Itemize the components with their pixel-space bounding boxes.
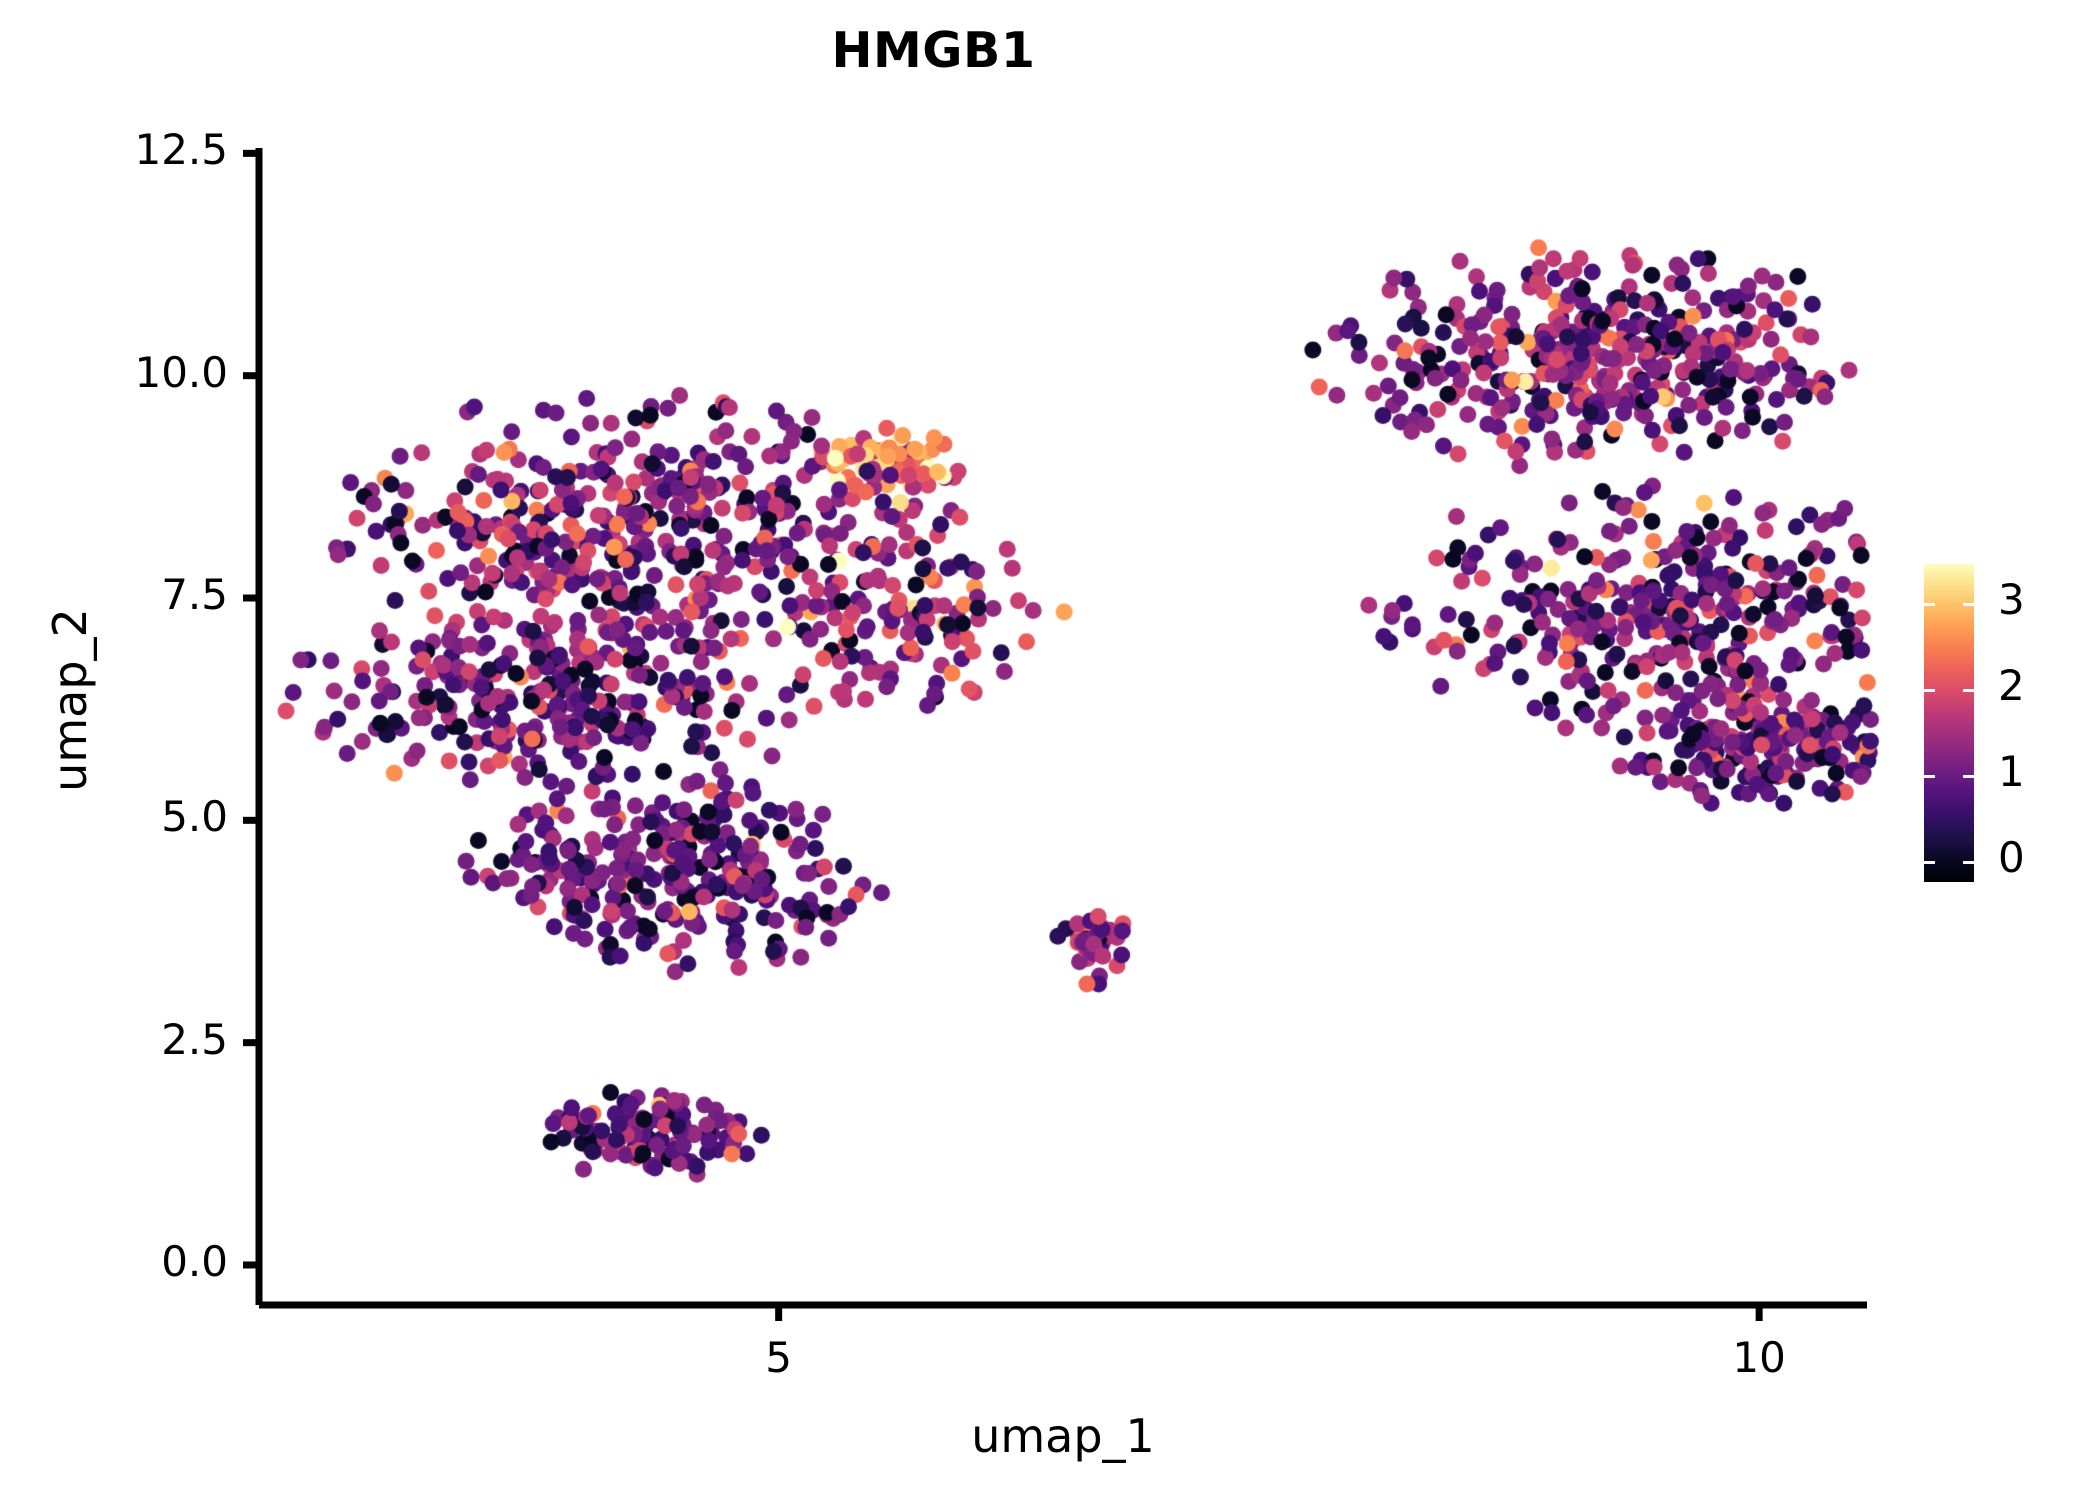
colorbar-tick-label: 2 xyxy=(1998,661,2025,710)
colorbar-tick-mark xyxy=(1924,689,1935,692)
y-tick-label: 0.0 xyxy=(13,1237,228,1286)
colorbar-tick-label: 1 xyxy=(1998,747,2025,796)
colorbar-tick-mark xyxy=(1924,603,1935,606)
figure-root: HMGB1 0.02.55.07.510.012.5510 umap_2 uma… xyxy=(0,0,2100,1500)
colorbar-gradient xyxy=(1924,564,1974,882)
y-tick-label: 10.0 xyxy=(13,348,228,397)
colorbar-tick-mark xyxy=(1963,775,1974,778)
colorbar-tick-label: 3 xyxy=(1998,575,2025,624)
colorbar-tick-mark xyxy=(1924,861,1935,864)
x-tick-label: 5 xyxy=(679,1333,879,1382)
colorbar: 0123 xyxy=(1924,564,1974,882)
y-tick-label: 12.5 xyxy=(13,125,228,174)
colorbar-tick-label: 0 xyxy=(1998,833,2025,882)
y-axis-label: umap_2 xyxy=(43,500,97,900)
x-tick-label: 10 xyxy=(1659,1333,1859,1382)
axes-spines xyxy=(0,0,2100,1500)
colorbar-tick-mark xyxy=(1924,775,1935,778)
colorbar-tick-mark xyxy=(1963,861,1974,864)
y-tick-label: 2.5 xyxy=(13,1015,228,1064)
x-axis-label: umap_1 xyxy=(763,1409,1363,1463)
colorbar-tick-mark xyxy=(1963,689,1974,692)
colorbar-tick-mark xyxy=(1963,603,1974,606)
